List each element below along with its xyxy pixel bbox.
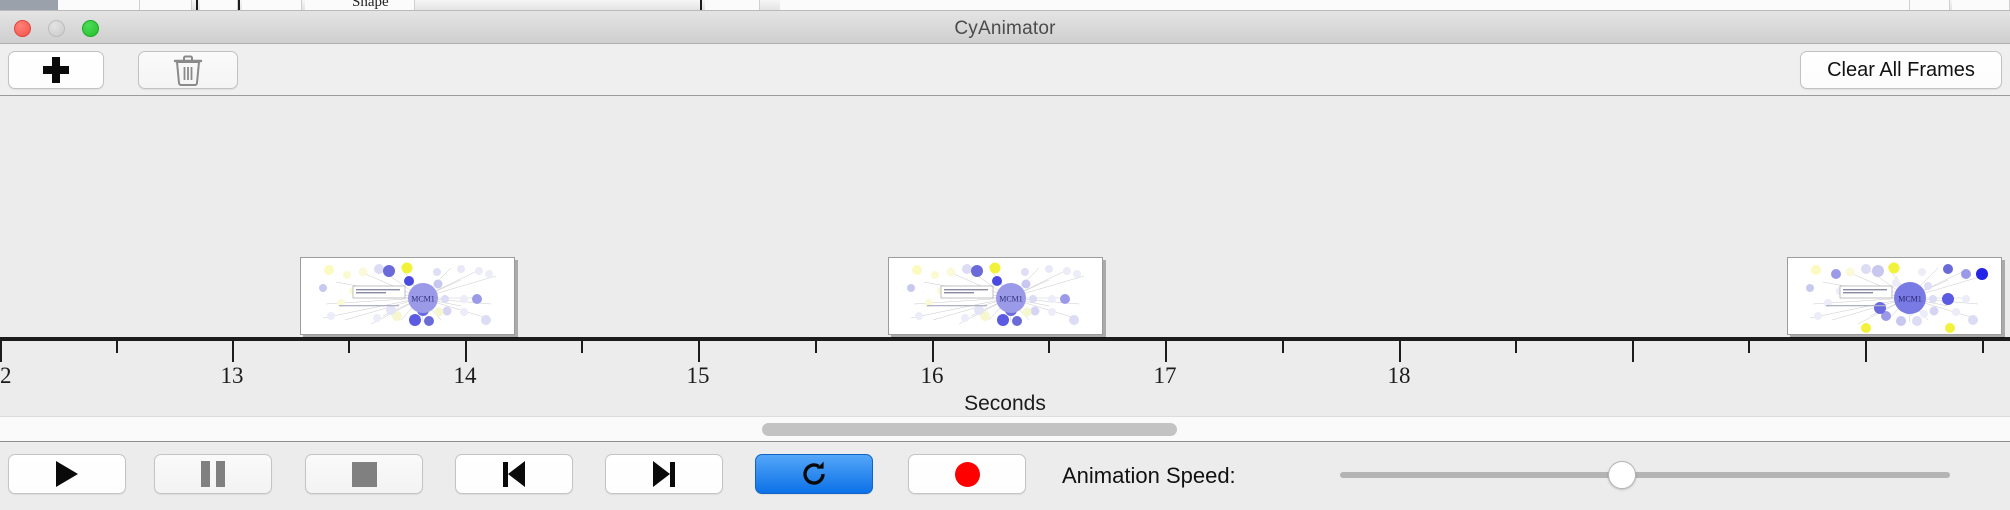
plus-icon <box>43 57 69 83</box>
background-window-label: Shape <box>352 0 389 11</box>
animation-speed-slider[interactable] <box>1340 472 1950 478</box>
play-button[interactable] <box>8 454 126 494</box>
ruler-tick-label: 14 <box>454 363 477 389</box>
pause-button[interactable] <box>154 454 272 494</box>
prev-frame-button[interactable] <box>455 454 573 494</box>
playback-controls-bar: Animation Speed: <box>0 442 2010 506</box>
skip-back-icon <box>503 461 525 487</box>
animation-speed-slider-thumb[interactable] <box>1608 461 1636 489</box>
timeline-frame-thumbnail[interactable]: MCM1 <box>300 257 515 335</box>
timeline-scrollbar-thumb[interactable] <box>762 423 1177 436</box>
timeline-frame-thumbnail[interactable]: MCM1 <box>1787 257 2002 335</box>
ruler-tick-label: 15 <box>687 363 710 389</box>
timeline-ruler: Seconds 12131415161718 <box>0 338 2010 416</box>
stop-icon <box>352 462 377 487</box>
ruler-major-tick <box>1399 341 1401 362</box>
cyanimator-window: CyAnimator Clear All Frames <box>0 11 2010 510</box>
ruler-major-tick <box>465 341 467 362</box>
ruler-minor-tick <box>348 341 350 353</box>
ruler-tick-label: 18 <box>1388 363 1411 389</box>
next-frame-button[interactable] <box>605 454 723 494</box>
network-thumbnail-graphic: MCM1 <box>1788 258 2001 334</box>
ruler-minor-tick <box>116 341 118 353</box>
timeline-frames-area[interactable]: MCM1 <box>0 96 2010 338</box>
clear-all-frames-label: Clear All Frames <box>1827 59 1975 82</box>
loop-button[interactable] <box>755 454 873 494</box>
ruler-major-tick <box>232 341 234 362</box>
ruler-major-tick <box>1632 341 1634 362</box>
svg-text:MCM1: MCM1 <box>999 295 1023 304</box>
ruler-minor-tick <box>815 341 817 353</box>
ruler-minor-tick <box>581 341 583 353</box>
window-title: CyAnimator <box>0 18 2010 40</box>
network-thumbnail-graphic: MCM1 <box>889 258 1102 334</box>
toolbar: Clear All Frames <box>0 44 2010 96</box>
animation-speed-label: Animation Speed: <box>1062 463 1236 489</box>
ruler-tick-label: 12 <box>0 363 12 389</box>
ruler-major-tick <box>932 341 934 362</box>
network-thumbnail-graphic: MCM1 <box>301 258 514 334</box>
ruler-major-tick <box>1865 341 1867 362</box>
svg-text:MCM1: MCM1 <box>411 295 435 304</box>
ruler-major-tick <box>698 341 700 362</box>
ruler-tick-label: 17 <box>1154 363 1177 389</box>
loop-icon <box>799 459 829 489</box>
play-icon <box>56 461 78 487</box>
stop-button[interactable] <box>305 454 423 494</box>
timeline-scrollbar[interactable] <box>0 416 2010 442</box>
title-bar: CyAnimator <box>0 11 2010 44</box>
ruler-minor-tick <box>1515 341 1517 353</box>
ruler-major-tick <box>0 341 2 362</box>
skip-forward-icon <box>653 461 675 487</box>
ruler-minor-tick <box>1982 341 1984 353</box>
ruler-tick-label: 16 <box>921 363 944 389</box>
axis-title: Seconds <box>0 392 2010 416</box>
ruler-major-tick <box>1165 341 1167 362</box>
ruler-minor-tick <box>1048 341 1050 353</box>
ruler-minor-tick <box>1282 341 1284 353</box>
add-frame-button[interactable] <box>8 51 104 89</box>
clear-all-frames-button[interactable]: Clear All Frames <box>1800 51 2002 89</box>
pause-icon <box>201 461 225 487</box>
timeline-frame-thumbnail[interactable]: MCM1 <box>888 257 1103 335</box>
ruler-tick-label: 13 <box>221 363 244 389</box>
background-window-strip: Shape <box>0 0 2010 11</box>
trash-icon <box>173 54 203 86</box>
ruler-minor-tick <box>1748 341 1750 353</box>
record-icon <box>955 462 980 487</box>
record-button[interactable] <box>908 454 1026 494</box>
delete-frame-button[interactable] <box>138 51 238 89</box>
svg-text:MCM1: MCM1 <box>1898 295 1922 304</box>
